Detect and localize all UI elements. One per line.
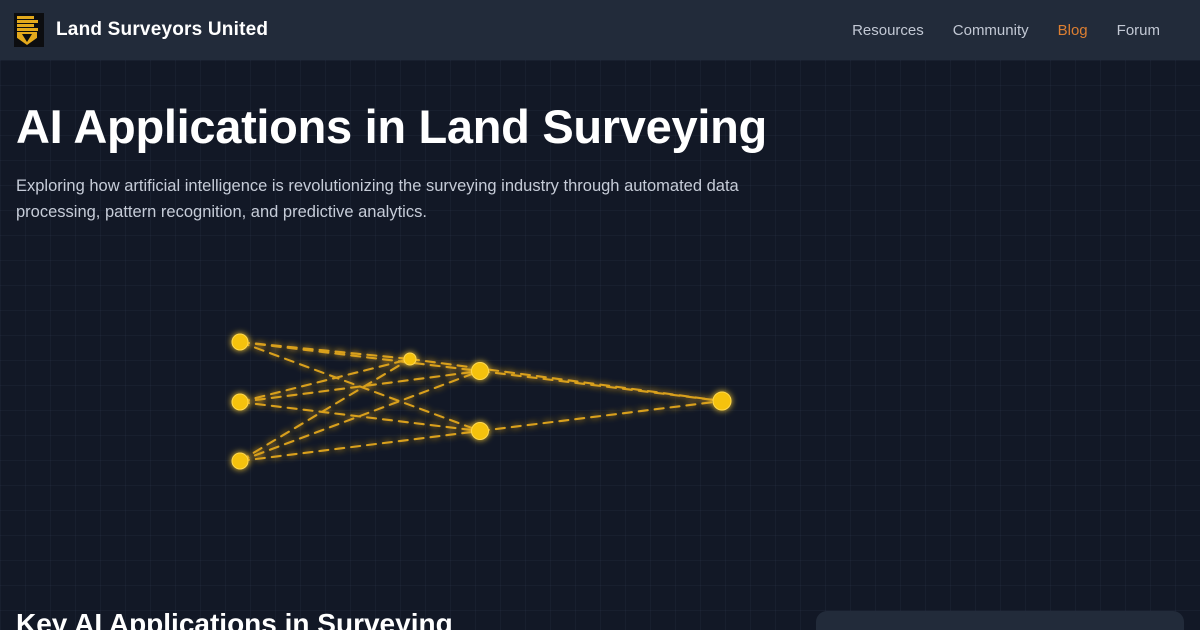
nn-node-input-1 [232,334,248,350]
nn-node-output-1 [713,392,731,410]
applications-card[interactable] [816,611,1184,630]
land-surveyors-united-logo-icon [14,13,44,47]
neural-network-figure [0,276,1200,526]
site-header: Land Surveyors United Resources Communit… [0,0,1200,60]
nn-node-hidden-2 [472,363,489,380]
main-nav: Resources Community Blog Forum [852,22,1160,39]
nn-edges [240,342,722,461]
nav-item-resources[interactable]: Resources [852,22,924,39]
page-title: AI Applications in Land Surveying [16,102,1200,153]
section-heading-key-applications: Key AI Applications in Surveying [16,608,453,630]
hero-subtitle: Exploring how artificial intelligence is… [16,173,741,226]
nn-node-hidden-1 [404,353,416,365]
brand[interactable]: Land Surveyors United [14,13,268,47]
nn-nodes [232,334,731,469]
nn-node-hidden-3 [472,423,489,440]
nn-node-input-3 [232,453,248,469]
nn-node-input-2 [232,394,248,410]
hero-section: AI Applications in Land Surveying Explor… [0,60,1200,226]
brand-name: Land Surveyors United [56,19,268,41]
nav-item-blog[interactable]: Blog [1058,22,1088,39]
nav-item-forum[interactable]: Forum [1117,22,1160,39]
nav-item-community[interactable]: Community [953,22,1029,39]
